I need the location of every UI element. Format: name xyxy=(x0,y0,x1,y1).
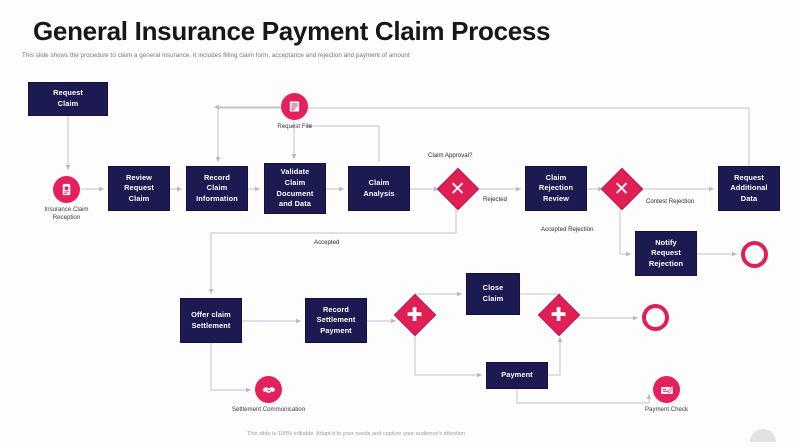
task-offer-claim-settlement[interactable]: Offer claimSettlement xyxy=(180,298,242,343)
cross-icon: ✕ xyxy=(450,179,466,198)
handshake-icon xyxy=(255,376,282,403)
task-request-claim[interactable]: RequestClaim xyxy=(28,82,108,116)
connector-layer xyxy=(0,0,800,448)
edge-label-accepted-rejection: Accepted Rejection xyxy=(541,226,594,233)
edge-label-accepted: Accepted xyxy=(314,239,339,246)
task-notify-request-rejection[interactable]: NotifyRequestRejection xyxy=(635,231,697,276)
task-close-claim[interactable]: CloseClaim xyxy=(466,273,520,315)
slide-canvas: General Insurance Payment Claim Process … xyxy=(0,0,800,448)
payment-check-label: Payment Check xyxy=(607,406,727,414)
end-event-payment xyxy=(642,304,669,331)
gateway-split-settlement[interactable]: ✚ xyxy=(394,294,436,336)
gateway-rejection-decision[interactable]: ✕ xyxy=(601,168,643,210)
document-file-icon xyxy=(281,93,308,120)
cross-icon: ✕ xyxy=(614,179,630,198)
task-claim-analysis[interactable]: ClaimAnalysis xyxy=(348,166,410,211)
gateway-claim-approval[interactable]: ✕ xyxy=(437,168,479,210)
request-file-label: Request File xyxy=(235,123,355,131)
edge-label-contest-rejection: Contest Rejection xyxy=(646,198,694,205)
edge-label-claim-approval: Claim Approval? xyxy=(428,152,472,159)
claim-reception-icon xyxy=(53,176,80,203)
task-request-additional-data[interactable]: RequestAdditionalData xyxy=(718,166,780,211)
page-subtitle: This slide shows the procedure to claim … xyxy=(22,52,410,59)
task-payment[interactable]: Payment xyxy=(486,362,548,389)
edge-label-rejected: Rejected xyxy=(483,196,507,203)
task-claim-rejection-review[interactable]: ClaimRejectionReview xyxy=(525,166,587,211)
task-validate-claim-document[interactable]: ValidateClaimDocumentand Data xyxy=(264,163,326,214)
end-event-rejection xyxy=(741,241,768,268)
claim-reception-label: Insurance Claim Reception xyxy=(7,206,127,221)
gateway-join-settlement[interactable]: ✚ xyxy=(538,294,580,336)
cheque-icon xyxy=(653,376,680,403)
task-record-settlement-payment[interactable]: RecordSettlementPayment xyxy=(305,298,367,343)
footer-note: This slide is 100% editable. Adapt it to… xyxy=(247,431,467,437)
plus-icon: ✚ xyxy=(407,305,423,324)
settlement-communication-label: Settlement Communication xyxy=(209,406,329,414)
task-review-request-claim[interactable]: ReviewRequestClaim xyxy=(108,166,170,211)
page-title: General Insurance Payment Claim Process xyxy=(33,16,550,47)
plus-icon: ✚ xyxy=(551,305,567,324)
task-record-claim-information[interactable]: RecordClaimInformation xyxy=(186,166,248,211)
watermark-logo xyxy=(732,424,794,446)
